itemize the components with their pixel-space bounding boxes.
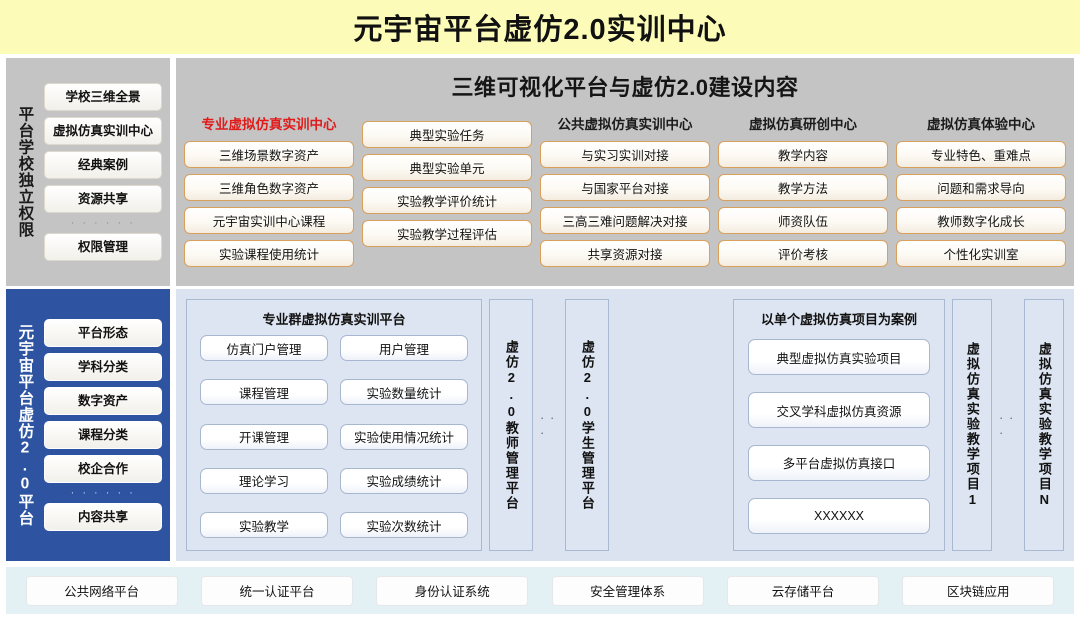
bottom-item-blockchain-application[interactable]: 区块链应用 [902, 576, 1054, 606]
diagram-root: 元宇宙平台虚仿2.0实训中心 平台学校独立权限 学校三维全景 虚拟仿真实训中心 … [0, 0, 1080, 618]
box-experiment-course-usage-stats[interactable]: 实验课程使用统计 [184, 240, 354, 267]
mid-block-spacer [616, 299, 726, 551]
sidebar-items-metaverse-platform: 平台形态 学科分类 数字资产 课程分类 校企合作 · · · · · · 内容共… [42, 319, 170, 531]
box-cross-discipline-vr-resource[interactable]: 交叉学科虚拟仿真资源 [748, 392, 930, 428]
sidebar-section-label-metaverse-platform: 元宇宙平台虚仿2.0平台 [6, 324, 42, 527]
sidebar-item-resource-sharing[interactable]: 资源共享 [44, 185, 162, 213]
sidebar-dots-metaverse-platform: · · · · · · [68, 489, 139, 497]
box-teaching-content[interactable]: 教学内容 [718, 141, 888, 168]
top-block: 三维可视化平台与虚仿2.0建设内容 专业虚拟仿真实训中心 三维场景数字资产 三维… [176, 58, 1074, 286]
box-evaluation-assessment[interactable]: 评价考核 [718, 240, 888, 267]
sidebar-section-metaverse-platform: 元宇宙平台虚仿2.0平台 平台形态 学科分类 数字资产 课程分类 校企合作 · … [6, 289, 170, 561]
top-column-items-professional: 三维场景数字资产 三维角色数字资产 元宇宙实训中心课程 实验课程使用统计 [184, 141, 354, 267]
top-column-heading-research: 虚拟仿真研创中心 [749, 113, 857, 133]
top-column-items-experiment-tasks: 典型实验任务 典型实验单元 实验教学评价统计 实验教学过程评估 [362, 121, 532, 247]
top-block-title: 三维可视化平台与虚仿2.0建设内容 [176, 70, 1074, 102]
sidebar: 平台学校独立权限 学校三维全景 虚拟仿真实训中心 经典案例 资源共享 · · ·… [6, 58, 170, 561]
box-major-features-key-points[interactable]: 专业特色、重难点 [896, 141, 1066, 168]
panel-vr-experiment-project-1[interactable]: 虚拟仿真实验教学项目1 [952, 299, 992, 551]
box-faculty-team[interactable]: 师资队伍 [718, 207, 888, 234]
sidebar-dots-school-rights: · · · · · · [68, 219, 139, 227]
box-class-opening-management[interactable]: 开课管理 [200, 424, 328, 450]
dots-between-teacher-student: · · · [540, 299, 558, 551]
box-course-management[interactable]: 课程管理 [200, 379, 328, 405]
header-band: 元宇宙平台虚仿2.0实训中心 [0, 0, 1080, 54]
main-area: 三维可视化平台与虚仿2.0建设内容 专业虚拟仿真实训中心 三维场景数字资产 三维… [176, 58, 1074, 561]
box-theory-learning[interactable]: 理论学习 [200, 468, 328, 494]
box-typical-experiment-unit[interactable]: 典型实验单元 [362, 154, 532, 181]
top-column-heading-experience: 虚拟仿真体验中心 [927, 113, 1035, 133]
sidebar-item-school-enterprise[interactable]: 校企合作 [44, 455, 162, 483]
bottom-item-cloud-storage-platform[interactable]: 云存储平台 [727, 576, 879, 606]
box-placeholder-xxxxxx[interactable]: XXXXXX [748, 498, 930, 534]
bottom-item-public-network-platform[interactable]: 公共网络平台 [26, 576, 178, 606]
sidebar-item-course-category[interactable]: 课程分类 [44, 421, 162, 449]
panel-vr-experiment-project-n[interactable]: 虚拟仿真实验教学项目N [1024, 299, 1064, 551]
top-column-experiment-tasks: 典型实验任务 典型实验单元 实验教学评价统计 实验教学过程评估 [362, 113, 532, 281]
panel-label-student-management: 虚仿2.0学生管理平台 [580, 340, 594, 511]
box-internship-docking[interactable]: 与实习实训对接 [540, 141, 710, 168]
panel-single-project-items: 典型虚拟仿真实验项目 交叉学科虚拟仿真资源 多平台虚拟仿真接口 XXXXXX [734, 335, 944, 550]
box-problem-demand-oriented[interactable]: 问题和需求导向 [896, 174, 1066, 201]
bottom-item-unified-auth-platform[interactable]: 统一认证平台 [201, 576, 353, 606]
bottom-item-identity-auth-system[interactable]: 身份认证系统 [376, 576, 528, 606]
box-personalized-training-room[interactable]: 个性化实训室 [896, 240, 1066, 267]
sidebar-item-platform-form[interactable]: 平台形态 [44, 319, 162, 347]
box-user-management[interactable]: 用户管理 [340, 335, 468, 361]
panel-teacher-management-platform[interactable]: 虚仿2.0教师管理平台 [489, 299, 533, 551]
sidebar-item-classic-cases[interactable]: 经典案例 [44, 151, 162, 179]
box-metaverse-center-course[interactable]: 元宇宙实训中心课程 [184, 207, 354, 234]
box-multi-platform-vr-interface[interactable]: 多平台虚拟仿真接口 [748, 445, 930, 481]
top-column-items-public: 与实习实训对接 与国家平台对接 三高三难问题解决对接 共享资源对接 [540, 141, 710, 267]
top-column-heading-public: 公共虚拟仿真实训中心 [558, 113, 693, 133]
sidebar-section-school-rights: 平台学校独立权限 学校三维全景 虚拟仿真实训中心 经典案例 资源共享 · · ·… [6, 58, 170, 286]
dots-between-projects: · · · [999, 299, 1017, 551]
panel-professional-group-left-column: 仿真门户管理 课程管理 开课管理 理论学习 实验教学 [200, 335, 328, 538]
sidebar-section-label-school-rights: 平台学校独立权限 [6, 106, 42, 238]
page-title: 元宇宙平台虚仿2.0实训中心 [353, 6, 726, 48]
sidebar-item-vr-training-center[interactable]: 虚拟仿真实训中心 [44, 117, 162, 145]
top-column-research-center: 虚拟仿真研创中心 教学内容 教学方法 师资队伍 评价考核 [718, 113, 888, 281]
sidebar-item-campus-panorama[interactable]: 学校三维全景 [44, 83, 162, 111]
sidebar-item-digital-assets[interactable]: 数字资产 [44, 387, 162, 415]
panel-label-teacher-management: 虚仿2.0教师管理平台 [504, 340, 518, 511]
panel-label-vr-experiment-project-n: 虚拟仿真实验教学项目N [1037, 342, 1051, 509]
panel-student-management-platform[interactable]: 虚仿2.0学生管理平台 [565, 299, 609, 551]
box-experiment-times-stats[interactable]: 实验次数统计 [340, 512, 468, 538]
box-national-platform-docking[interactable]: 与国家平台对接 [540, 174, 710, 201]
sidebar-items-school-rights: 学校三维全景 虚拟仿真实训中心 经典案例 资源共享 · · · · · · 权限… [42, 83, 170, 261]
box-experiment-teaching-process-assessment[interactable]: 实验教学过程评估 [362, 220, 532, 247]
box-experiment-usage-stats[interactable]: 实验使用情况统计 [340, 424, 468, 450]
top-column-heading-professional: 专业虚拟仿真实训中心 [202, 113, 337, 133]
box-teacher-digital-growth[interactable]: 教师数字化成长 [896, 207, 1066, 234]
panel-professional-group-columns: 仿真门户管理 课程管理 开课管理 理论学习 实验教学 用户管理 实验数量统计 实… [187, 335, 481, 550]
panel-professional-group-right-column: 用户管理 实验数量统计 实验使用情况统计 实验成绩统计 实验次数统计 [340, 335, 468, 538]
top-column-public-vr-center: 公共虚拟仿真实训中心 与实习实训对接 与国家平台对接 三高三难问题解决对接 共享… [540, 113, 710, 281]
box-experiment-teaching-eval-stats[interactable]: 实验教学评价统计 [362, 187, 532, 214]
box-simulation-portal-management[interactable]: 仿真门户管理 [200, 335, 328, 361]
top-column-experience-center: 虚拟仿真体验中心 专业特色、重难点 问题和需求导向 教师数字化成长 个性化实训室 [896, 113, 1066, 281]
sidebar-item-permission-management[interactable]: 权限管理 [44, 233, 162, 261]
box-teaching-method[interactable]: 教学方法 [718, 174, 888, 201]
top-block-columns: 专业虚拟仿真实训中心 三维场景数字资产 三维角色数字资产 元宇宙实训中心课程 实… [184, 113, 1066, 281]
top-column-items-experience: 专业特色、重难点 问题和需求导向 教师数字化成长 个性化实训室 [896, 141, 1066, 267]
bottom-infrastructure-bar: 公共网络平台 统一认证平台 身份认证系统 安全管理体系 云存储平台 区块链应用 [6, 567, 1074, 614]
top-column-items-research: 教学内容 教学方法 师资队伍 评价考核 [718, 141, 888, 267]
panel-title-single-project-case: 以单个虚拟仿真项目为案例 [734, 300, 944, 335]
panel-professional-group-platform: 专业群虚拟仿真实训平台 仿真门户管理 课程管理 开课管理 理论学习 实验教学 用… [186, 299, 482, 551]
box-3d-character-digital-asset[interactable]: 三维角色数字资产 [184, 174, 354, 201]
box-three-high-three-hard-docking[interactable]: 三高三难问题解决对接 [540, 207, 710, 234]
panel-label-vr-experiment-project-1: 虚拟仿真实验教学项目1 [965, 342, 979, 509]
box-experiment-teaching[interactable]: 实验教学 [200, 512, 328, 538]
box-3d-scene-digital-asset[interactable]: 三维场景数字资产 [184, 141, 354, 168]
box-experiment-score-stats[interactable]: 实验成绩统计 [340, 468, 468, 494]
box-typical-experiment-task[interactable]: 典型实验任务 [362, 121, 532, 148]
box-typical-vr-experiment-project[interactable]: 典型虚拟仿真实验项目 [748, 339, 930, 375]
box-shared-resource-docking[interactable]: 共享资源对接 [540, 240, 710, 267]
top-column-professional-vr-center: 专业虚拟仿真实训中心 三维场景数字资产 三维角色数字资产 元宇宙实训中心课程 实… [184, 113, 354, 281]
panel-single-project-case: 以单个虚拟仿真项目为案例 典型虚拟仿真实验项目 交叉学科虚拟仿真资源 多平台虚拟… [733, 299, 945, 551]
bottom-item-security-management-system[interactable]: 安全管理体系 [552, 576, 704, 606]
box-experiment-count-stats[interactable]: 实验数量统计 [340, 379, 468, 405]
mid-block: 专业群虚拟仿真实训平台 仿真门户管理 课程管理 开课管理 理论学习 实验教学 用… [176, 289, 1074, 561]
sidebar-item-discipline-category[interactable]: 学科分类 [44, 353, 162, 381]
panel-title-professional-group: 专业群虚拟仿真实训平台 [187, 300, 481, 335]
sidebar-item-content-sharing[interactable]: 内容共享 [44, 503, 162, 531]
